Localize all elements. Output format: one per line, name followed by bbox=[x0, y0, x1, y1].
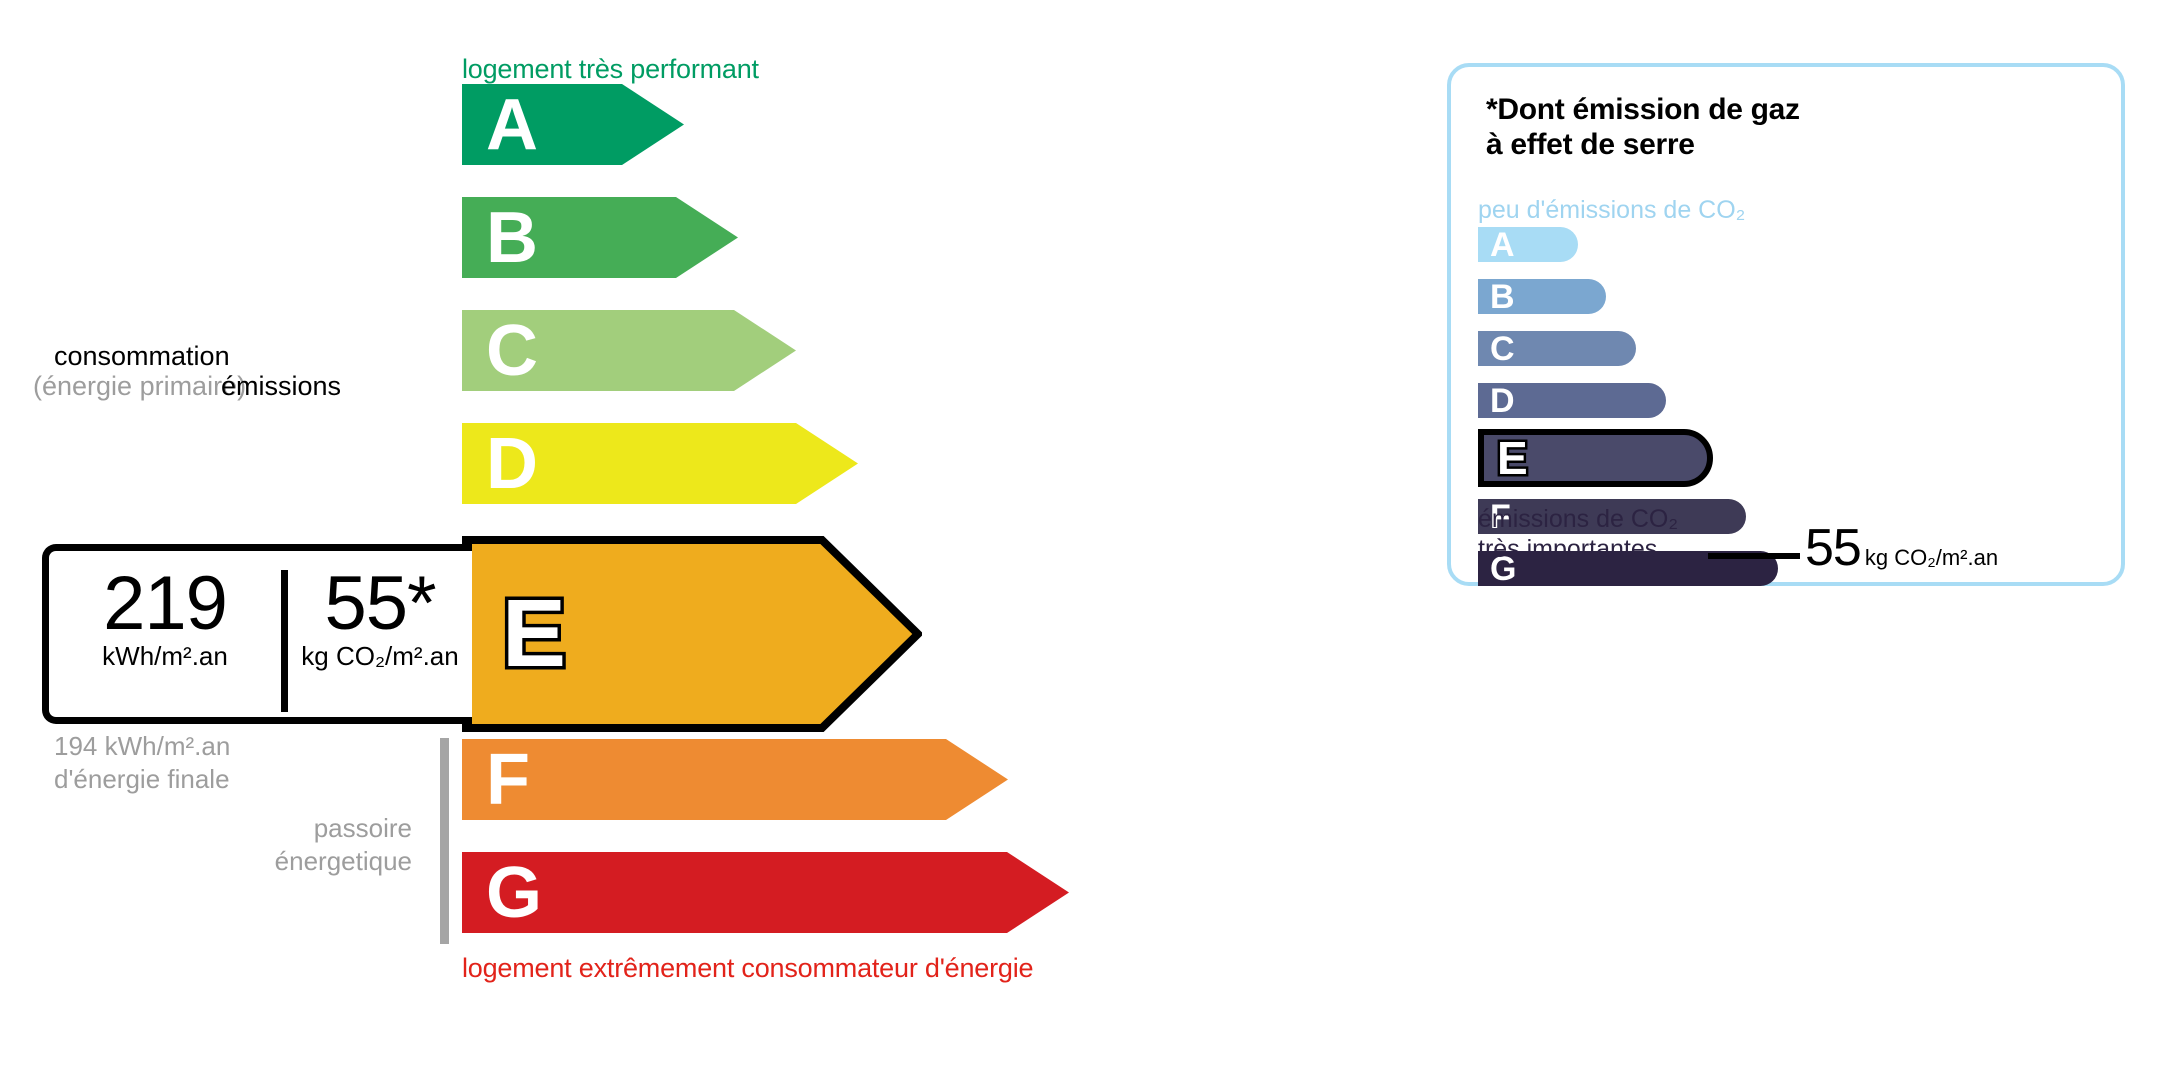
consumption-header-sublabel: (énergie primaire) bbox=[33, 371, 246, 402]
consumption-unit: kWh/m².an bbox=[49, 641, 281, 672]
emissions-header-label: émissions bbox=[221, 371, 341, 402]
co2-bottom-line-1: émissions de CO₂ bbox=[1478, 504, 1678, 534]
energy-class-letter-e: E bbox=[502, 586, 566, 682]
energy-performance-diagram: logement très performant ABCDEFG consomm… bbox=[0, 0, 1430, 1079]
emissions-value-cell: 55* kg CO₂/m².an bbox=[288, 565, 472, 672]
co2-emissions-panel: *Dont émission de gaz à effet de serre p… bbox=[1447, 63, 2125, 586]
co2-class-letter-a: A bbox=[1490, 228, 1515, 262]
consumption-value: 219 bbox=[49, 565, 281, 643]
value-box-divider bbox=[281, 570, 288, 712]
energy-class-row-g: G bbox=[462, 852, 1069, 933]
energy-class-letter-d: D bbox=[486, 428, 538, 500]
co2-panel-title: *Dont émission de gaz à effet de serre bbox=[1486, 93, 1800, 163]
consumption-value-cell: 219 kWh/m².an bbox=[49, 565, 281, 672]
passoire-energetique-label: passoire énergetique bbox=[0, 812, 412, 877]
energy-class-letter-a: A bbox=[486, 89, 538, 161]
co2-title-line-2: à effet de serre bbox=[1486, 128, 1800, 163]
co2-callout: 55kg CO₂/m².an bbox=[1805, 518, 1998, 578]
co2-class-row-d: D bbox=[1478, 383, 1666, 418]
co2-class-row-c: C bbox=[1478, 331, 1636, 366]
energy-class-letter-g: G bbox=[486, 857, 542, 929]
co2-top-caption: peu d'émissions de CO₂ bbox=[1478, 196, 1745, 225]
passoire-divider-bar bbox=[440, 738, 449, 944]
co2-class-row-a: A bbox=[1478, 227, 1578, 262]
co2-class-letter-c: C bbox=[1490, 332, 1515, 366]
energy-class-row-f: F bbox=[462, 739, 1008, 820]
co2-class-letter-b: B bbox=[1490, 280, 1515, 314]
emissions-value: 55* bbox=[288, 565, 472, 643]
final-energy-value: 194 kWh/m².an bbox=[54, 730, 230, 763]
final-energy-note: 194 kWh/m².an d'énergie finale bbox=[54, 730, 230, 795]
co2-bottom-caption: émissions de CO₂ très importantes bbox=[1478, 504, 1678, 564]
final-energy-label: d'énergie finale bbox=[54, 763, 230, 796]
value-box: 219 kWh/m².an 55* kg CO₂/m².an bbox=[42, 544, 472, 724]
co2-class-letter-d: D bbox=[1490, 384, 1515, 418]
co2-title-line-1: *Dont émission de gaz bbox=[1486, 93, 1800, 128]
co2-callout-unit: kg CO₂/m².an bbox=[1865, 545, 1998, 570]
energy-class-row-d: D bbox=[462, 423, 858, 504]
emissions-unit: kg CO₂/m².an bbox=[288, 641, 472, 672]
energy-class-letter-b: B bbox=[486, 202, 538, 274]
co2-bottom-line-2: très importantes bbox=[1478, 534, 1678, 564]
energy-arrow-shape-f bbox=[462, 739, 1008, 820]
co2-class-letter-e: E bbox=[1497, 435, 1528, 481]
energy-class-letter-c: C bbox=[486, 315, 538, 387]
energy-class-row-e: E bbox=[462, 536, 922, 732]
co2-class-row-b: B bbox=[1478, 279, 1606, 314]
energy-top-caption: logement très performant bbox=[462, 54, 759, 85]
energy-class-row-b: B bbox=[462, 197, 738, 278]
energy-class-row-a: A bbox=[462, 84, 684, 165]
consumption-header-label: consommation bbox=[54, 341, 230, 372]
co2-callout-leader-line bbox=[1708, 553, 1800, 559]
co2-class-row-e: E bbox=[1478, 429, 1713, 487]
co2-callout-value: 55 bbox=[1805, 519, 1861, 577]
energy-bottom-caption: logement extrêmement consommateur d'éner… bbox=[462, 953, 1033, 984]
energy-class-row-c: C bbox=[462, 310, 796, 391]
passoire-line-1: passoire bbox=[0, 812, 412, 845]
passoire-line-2: énergetique bbox=[0, 845, 412, 878]
energy-arrow-shape-g bbox=[462, 852, 1069, 933]
energy-class-letter-f: F bbox=[486, 744, 530, 816]
